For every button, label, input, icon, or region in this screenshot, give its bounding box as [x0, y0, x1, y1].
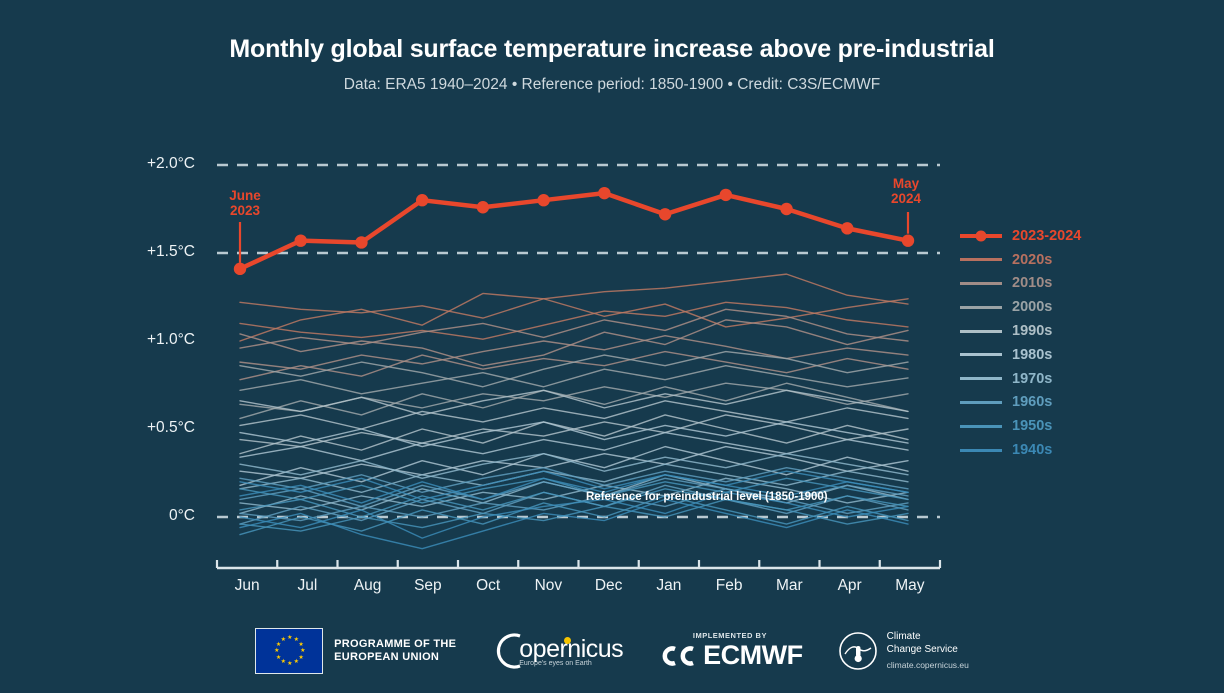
data-point-marker [598, 187, 610, 199]
page-title: Monthly global surface temperature incre… [0, 35, 1224, 64]
data-point-marker [537, 194, 549, 206]
x-axis-month-label: Dec [579, 577, 639, 595]
eu-star-icon: ★ [281, 638, 285, 642]
eu-logo-line1: PROGRAMME OF THE [334, 638, 456, 651]
legend-label: 1990s [1012, 323, 1052, 339]
legend-item-2020s[interactable]: 2020s [960, 248, 1081, 272]
eu-star-icon: ★ [294, 638, 298, 642]
data-point-marker [720, 189, 732, 201]
eu-star-icon: ★ [276, 643, 280, 647]
y-axis-tick-label: +2.0°C [105, 155, 195, 173]
ecmwf-word-text: ECMWF [703, 640, 802, 671]
annotation-june-2023-line1: June [205, 188, 285, 203]
x-axis-month-label: Jul [277, 577, 337, 595]
c3s-line1: Climate [887, 630, 969, 643]
annotation-may-2024-line1: May [866, 176, 946, 191]
ecmwf-cloud-icon [657, 643, 699, 669]
legend-swatch [960, 234, 1002, 239]
x-axis-month-label: Jun [217, 577, 277, 595]
eu-star-icon: ★ [300, 649, 304, 653]
decade-line [240, 401, 908, 429]
eu-star-icon: ★ [276, 656, 280, 660]
legend-swatch [960, 258, 1002, 261]
legend-label: 2023-2024 [1012, 228, 1081, 244]
x-axis-month-label: Feb [699, 577, 759, 595]
legend-item-2010s[interactable]: 2010s [960, 272, 1081, 296]
eu-star-icon: ★ [287, 636, 291, 640]
legend-swatch [960, 449, 1002, 452]
decade-line [240, 366, 908, 394]
legend-item-1960s[interactable]: 1960s [960, 391, 1081, 415]
data-point-marker [355, 236, 367, 248]
decade-line [240, 293, 908, 341]
x-axis-month-label: Jan [639, 577, 699, 595]
legend-swatch [960, 330, 1002, 333]
data-point-marker [234, 263, 246, 275]
legend-item-1970s[interactable]: 1970s [960, 367, 1081, 391]
legend-item-1990s[interactable]: 1990s [960, 319, 1081, 343]
ecmwf-implemented-by: IMPLEMENTED BY [693, 631, 767, 640]
x-axis-month-label: Mar [759, 577, 819, 595]
legend-item-2023-2024[interactable]: 2023-2024 [960, 224, 1081, 248]
annotation-june-2023: June 2023 [205, 188, 285, 218]
eu-star-icon: ★ [281, 660, 285, 664]
copernicus-wordmark: opernicus [519, 635, 623, 664]
c3s-url: climate.copernicus.eu [887, 659, 969, 672]
data-point-marker [295, 234, 307, 246]
legend-swatch [960, 306, 1002, 309]
legend-swatch [960, 377, 1002, 380]
legend-item-1950s[interactable]: 1950s [960, 414, 1081, 438]
x-axis-month-label: May [880, 577, 940, 595]
x-axis-month-label: Nov [518, 577, 578, 595]
x-axis-month-label: Sep [398, 577, 458, 595]
eu-star-icon: ★ [298, 643, 302, 647]
legend-swatch [960, 282, 1002, 285]
chart-legend: 2023-20242020s2010s2000s1990s1980s1970s1… [960, 224, 1081, 462]
data-point-marker [780, 203, 792, 215]
x-axis-month-label: Apr [820, 577, 880, 595]
copernicus-logo: opernicus Europe's eyes on Earth [490, 629, 623, 673]
decade-line [240, 352, 908, 387]
y-axis-tick-label: +1.0°C [105, 331, 195, 349]
x-axis-month-label: Aug [338, 577, 398, 595]
annotation-june-2023-line2: 2023 [205, 203, 285, 218]
legend-label: 1950s [1012, 418, 1052, 434]
x-axis-month-label: Oct [458, 577, 518, 595]
footer-logos: ★★★★★★★★★★★★ PROGRAMME OF THE EUROPEAN U… [0, 620, 1224, 682]
c3s-line2: Change Service [887, 643, 969, 656]
legend-swatch [960, 353, 1002, 356]
ecmwf-wordmark: ECMWF [657, 640, 802, 671]
legend-item-2000s[interactable]: 2000s [960, 295, 1081, 319]
eu-logo-text: PROGRAMME OF THE EUROPEAN UNION [334, 638, 456, 664]
legend-item-1980s[interactable]: 1980s [960, 343, 1081, 367]
legend-label: 2020s [1012, 252, 1052, 268]
ecmwf-logo: IMPLEMENTED BY ECMWF [657, 631, 802, 671]
c3s-thermometer-icon [837, 630, 879, 672]
eu-logo-line2: EUROPEAN UNION [334, 651, 456, 664]
y-axis-tick-label: 0°C [105, 507, 195, 525]
eu-logo: ★★★★★★★★★★★★ PROGRAMME OF THE EUROPEAN U… [255, 628, 456, 674]
legend-label: 2000s [1012, 299, 1052, 315]
legend-label: 2010s [1012, 275, 1052, 291]
data-point-marker [659, 208, 671, 220]
annotation-may-2024-line2: 2024 [866, 191, 946, 206]
highlight-line-2023-2024 [240, 193, 908, 269]
eu-star-icon: ★ [274, 649, 278, 653]
eu-star-icon: ★ [287, 662, 291, 666]
legend-item-1940s[interactable]: 1940s [960, 438, 1081, 462]
data-point-marker [841, 222, 853, 234]
decade-line [240, 422, 908, 447]
data-point-marker [477, 201, 489, 213]
reference-note: Reference for preindustrial level (1850-… [586, 491, 828, 503]
c3s-logo: Climate Change Service climate.copernicu… [837, 630, 969, 672]
legend-swatch [960, 401, 1002, 404]
page-subtitle: Data: ERA5 1940–2024 • Reference period:… [0, 76, 1224, 94]
decade-line [240, 352, 908, 380]
legend-label: 1940s [1012, 442, 1052, 458]
legend-label: 1960s [1012, 394, 1052, 410]
eu-flag-icon: ★★★★★★★★★★★★ [255, 628, 323, 674]
eu-star-icon: ★ [294, 660, 298, 664]
y-axis-tick-label: +1.5°C [105, 243, 195, 261]
c3s-text: Climate Change Service climate.copernicu… [887, 630, 969, 672]
chart-canvas: Monthly global surface temperature incre… [0, 0, 1224, 688]
data-point-marker [416, 194, 428, 206]
legend-label: 1980s [1012, 347, 1052, 363]
legend-label: 1970s [1012, 371, 1052, 387]
copernicus-word-text: opernicus [519, 635, 623, 663]
annotation-may-2024: May 2024 [866, 176, 946, 206]
y-axis-tick-label: +0.5°C [105, 419, 195, 437]
data-point-marker [902, 234, 914, 246]
legend-swatch [960, 425, 1002, 428]
